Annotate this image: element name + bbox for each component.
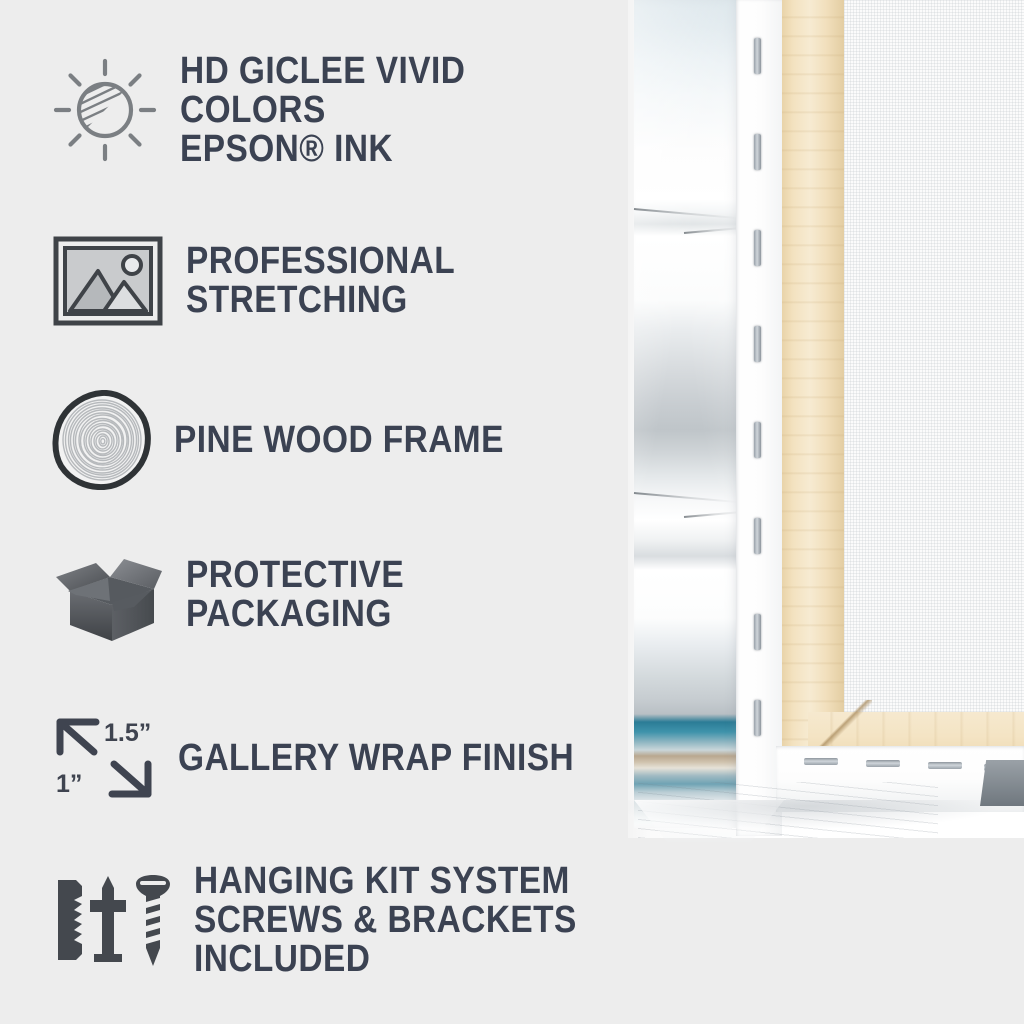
- depth-top-label: 1.5”: [104, 719, 151, 747]
- feature-label-packaging: PROTECTIVE PACKAGING: [186, 556, 586, 634]
- infographic-root: HD GICLEE VIVID COLORS EPSON® INK PROFES…: [0, 0, 1024, 1024]
- feature-label-giclee: HD GICLEE VIVID COLORS EPSON® INK: [180, 52, 585, 168]
- staple: [754, 230, 761, 266]
- feature-row-packaging: PROTECTIVE PACKAGING: [52, 545, 640, 645]
- canvas-drop-shadow: [628, 800, 1024, 860]
- depth-arrows-icon: 1.5” 1”: [52, 712, 164, 804]
- staple: [754, 326, 761, 362]
- feature-row-pine: PINE WOOD FRAME: [52, 390, 549, 490]
- canvas-back-surface: [844, 0, 1024, 742]
- artwork-wrapped-edge: [634, 0, 738, 828]
- feature-row-gallery-wrap: 1.5” 1” GALLERY WRAP FINISH: [52, 712, 628, 804]
- feature-label-stretching: PROFESSIONAL STRETCHING: [186, 242, 586, 320]
- feature-row-hanging: HANGING KIT SYSTEM SCREWS & BRACKETS INC…: [52, 862, 640, 978]
- open-box-icon: [52, 545, 164, 645]
- staple: [754, 38, 761, 74]
- staple: [754, 518, 761, 554]
- depth-bottom-label: 1”: [56, 770, 82, 798]
- sun-icon: [52, 57, 158, 163]
- staple: [866, 760, 900, 767]
- feature-row-giclee: HD GICLEE VIVID COLORS EPSON® INK: [52, 52, 640, 168]
- feature-label-pine: PINE WOOD FRAME: [174, 421, 504, 460]
- tree-ring-icon: [52, 390, 152, 490]
- canvas-corner-photo: [628, 0, 1024, 1024]
- staple: [754, 700, 761, 736]
- feature-row-stretching: PROFESSIONAL STRETCHING: [52, 235, 640, 327]
- feature-list: HD GICLEE VIVID COLORS EPSON® INK PROFES…: [0, 0, 640, 1024]
- pine-stretcher-bar-vertical: [782, 0, 844, 790]
- staple: [754, 422, 761, 458]
- picture-frame-icon: [52, 235, 164, 327]
- hardware-icon: [52, 870, 172, 970]
- staple: [754, 614, 761, 650]
- staple: [754, 134, 761, 170]
- feature-label-hanging: HANGING KIT SYSTEM SCREWS & BRACKETS INC…: [194, 862, 586, 978]
- feature-label-gallery-wrap: GALLERY WRAP FINISH: [178, 739, 574, 778]
- staple: [928, 762, 962, 769]
- staple: [804, 758, 838, 765]
